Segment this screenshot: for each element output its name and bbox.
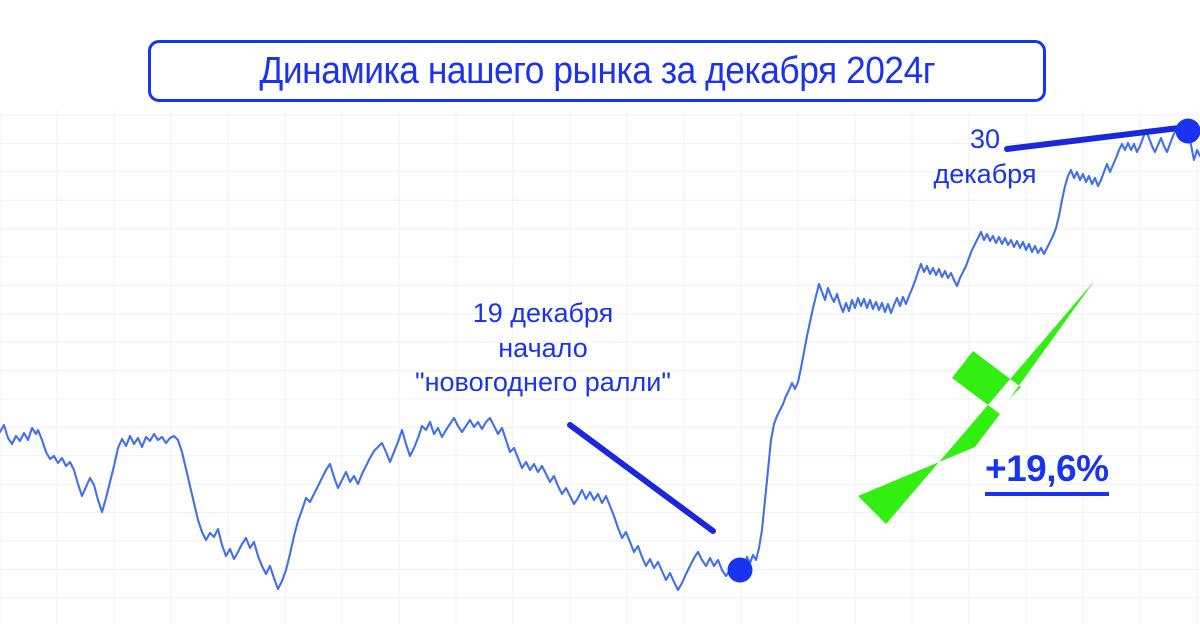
chart-canvas: Динамика нашего рынка за декабря 2024г 1… bbox=[0, 0, 1200, 624]
annotation-dec30-line1: 30 bbox=[900, 122, 1070, 157]
marker-dot-dec30 bbox=[1176, 119, 1200, 144]
chart-title: Динамика нашего рынка за декабря 2024г bbox=[259, 50, 935, 93]
annotation-dec19-line3: "новогоднего ралли" bbox=[378, 365, 708, 400]
annotation-dec30-line2: декабря bbox=[900, 157, 1070, 192]
growth-percent-label: +19,6% bbox=[985, 448, 1109, 496]
marker-dot-dec19 bbox=[728, 558, 753, 583]
annotation-dec19: 19 декабря начало "новогоднего ралли" bbox=[378, 296, 708, 400]
annotation-dec19-line1: 19 декабря bbox=[378, 296, 708, 331]
annotation-dec19-line2: начало bbox=[378, 331, 708, 366]
chart-title-box: Динамика нашего рынка за декабря 2024г bbox=[148, 40, 1046, 102]
leader-line-dec19 bbox=[570, 425, 713, 531]
annotation-dec30: 30 декабря bbox=[900, 122, 1070, 191]
